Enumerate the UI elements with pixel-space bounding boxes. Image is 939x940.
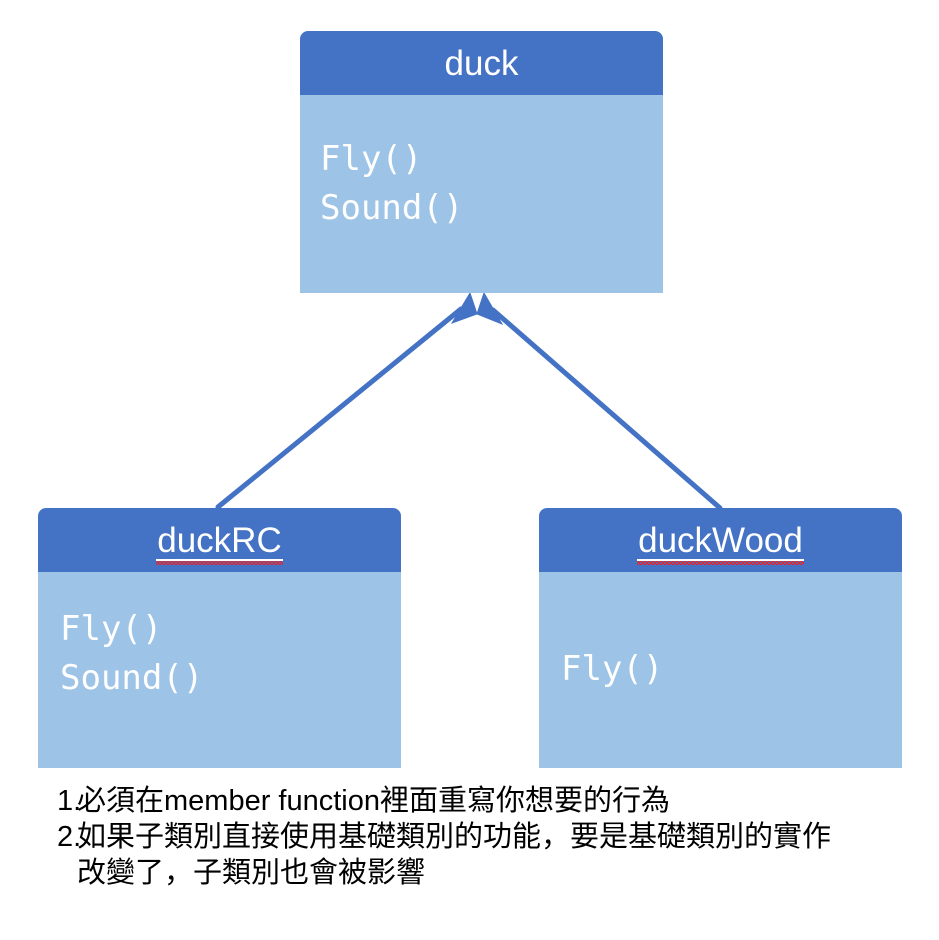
class-body-duckrc: Fly() Sound()	[38, 572, 401, 768]
note-item: 2. 如果子類別直接使用基礎類別的功能，要是基礎類別的實作改變了，子類別也會被影…	[0, 819, 939, 891]
method-label: Fly()	[320, 135, 663, 184]
class-title-duck: duck	[445, 46, 519, 81]
class-body-duckwood: Fly()	[539, 572, 902, 768]
method-label: Fly()	[561, 645, 902, 694]
arrow-line-duckrc-to-duck	[218, 309, 461, 507]
note-text: 如果子類別直接使用基礎類別的功能，要是基礎類別的實作改變了，子類別也會被影響	[77, 819, 847, 891]
arrow-head-duckwood-to-duck	[477, 293, 502, 324]
method-label: Sound()	[60, 654, 401, 703]
note-item: 1. 必須在member function裡面重寫你想要的行為	[0, 783, 939, 819]
arrow-line-duckwood-to-duck	[493, 310, 720, 508]
note-number: 1.	[0, 783, 77, 819]
class-header-duckwood: duckWood	[539, 508, 902, 572]
note-text: 必須在member function裡面重寫你想要的行為	[77, 783, 847, 819]
method-label: Fly()	[60, 605, 401, 654]
class-header-duckrc: duckRC	[38, 508, 401, 572]
class-header-duck: duck	[300, 31, 663, 95]
class-title-duckrc: duckRC	[157, 523, 281, 558]
class-box-duckrc[interactable]: duckRC Fly() Sound()	[38, 508, 401, 768]
arrow-head-duckrc-to-duck	[452, 293, 477, 323]
class-body-duck: Fly() Sound()	[300, 95, 663, 293]
class-box-duckwood[interactable]: duckWood Fly()	[539, 508, 902, 768]
class-box-duck[interactable]: duck Fly() Sound()	[300, 31, 663, 293]
note-number: 2.	[0, 819, 77, 855]
class-title-duckwood: duckWood	[638, 523, 803, 558]
method-label: Sound()	[320, 184, 663, 233]
diagram-canvas: duck Fly() Sound() duckRC Fly() Sound() …	[0, 0, 939, 940]
notes-list: 1. 必須在member function裡面重寫你想要的行為 2. 如果子類別…	[0, 783, 939, 891]
